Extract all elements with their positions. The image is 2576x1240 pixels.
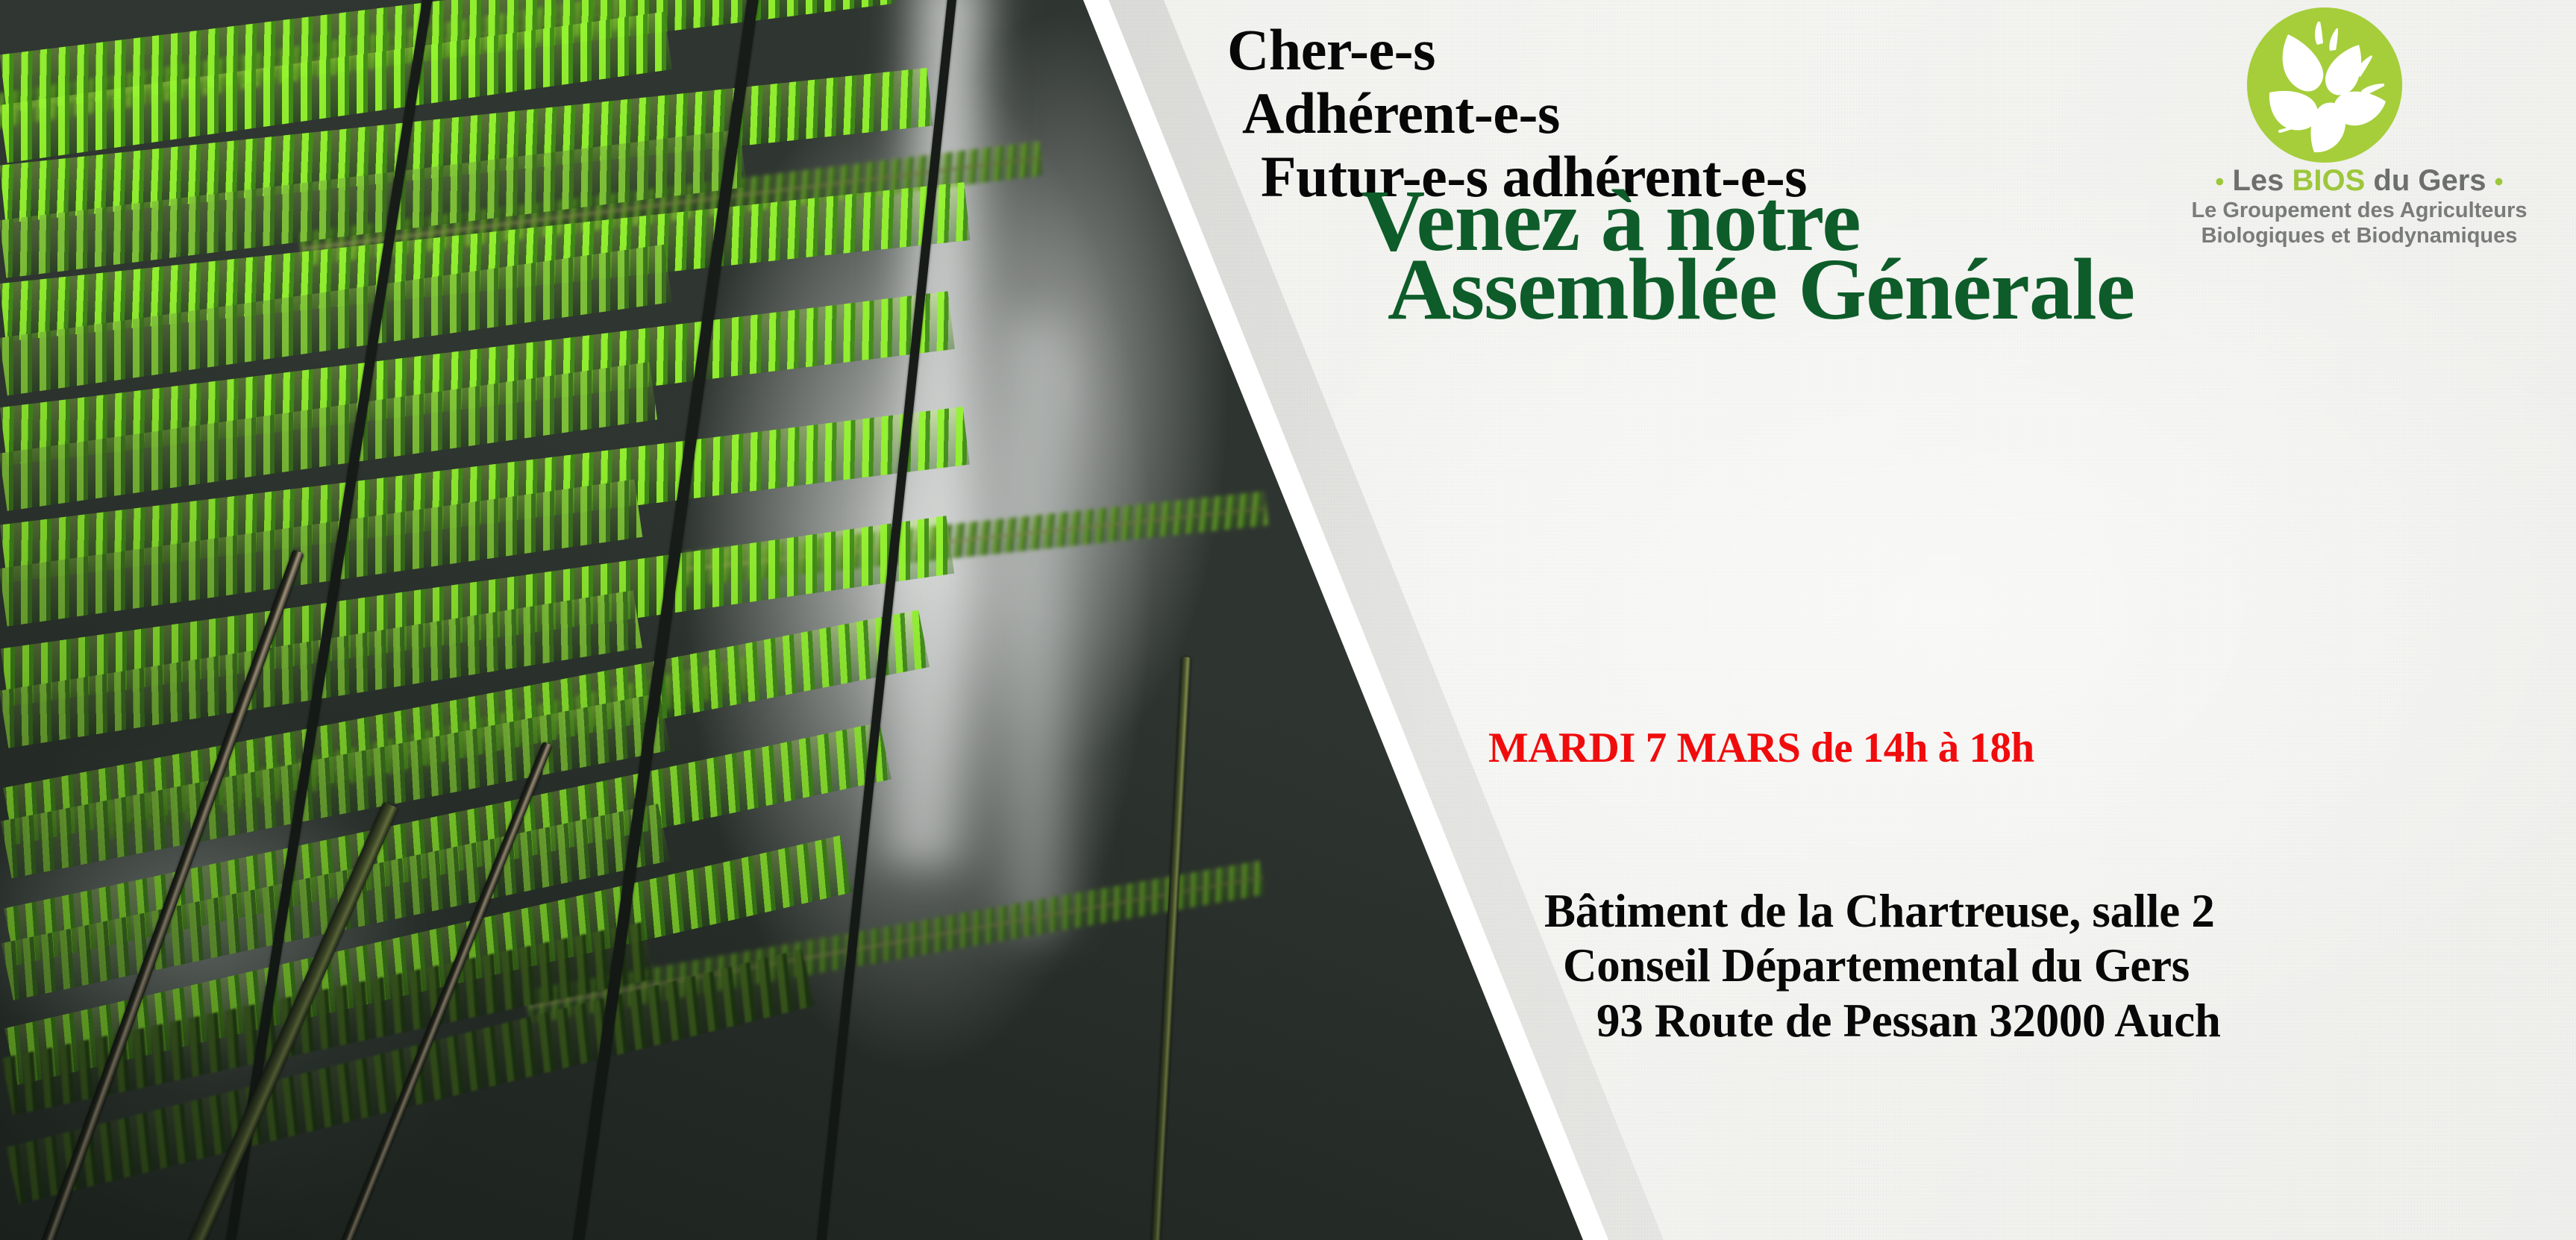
poster-content: Cher-e-s Adhérent-e-s Futur-e-s adhérent…: [0, 0, 2576, 1240]
poster: Cher-e-s Adhérent-e-s Futur-e-s adhérent…: [0, 0, 2576, 1240]
logo-name-suffix: du Gers: [2365, 164, 2486, 197]
logo-wordmark: • Les BIOS du Gers •: [2156, 164, 2563, 198]
logo-bullet-right: •: [2495, 168, 2504, 196]
logo-name-prefix: Les: [2232, 164, 2292, 197]
logo: • Les BIOS du Gers • Le Groupement des A…: [2238, 6, 2551, 178]
logo-bullet-left: •: [2215, 168, 2224, 196]
headline-line-2: Assemblée Générale: [1388, 239, 2134, 340]
logo-tagline-line-2: Biologiques et Biodynamiques: [2156, 224, 2563, 248]
address-line-1: Bâtiment de la Chartreuse, salle 2: [1544, 884, 2215, 939]
logo-tagline-line-1: Le Groupement des Agriculteurs: [2156, 198, 2563, 223]
event-date-time: MARDI 7 MARS de 14h à 18h: [1488, 724, 2034, 772]
logo-name-accent: BIOS: [2292, 164, 2365, 197]
address-line-2: Conseil Départemental du Gers: [1563, 939, 2190, 993]
salutation-line-1: Cher-e-s: [1227, 16, 1435, 84]
flower-circle-icon: [2246, 6, 2404, 164]
salutation-line-2: Adhérent-e-s: [1242, 80, 1560, 147]
address-line-3: 93 Route de Pessan 32000 Auch: [1596, 994, 2221, 1048]
